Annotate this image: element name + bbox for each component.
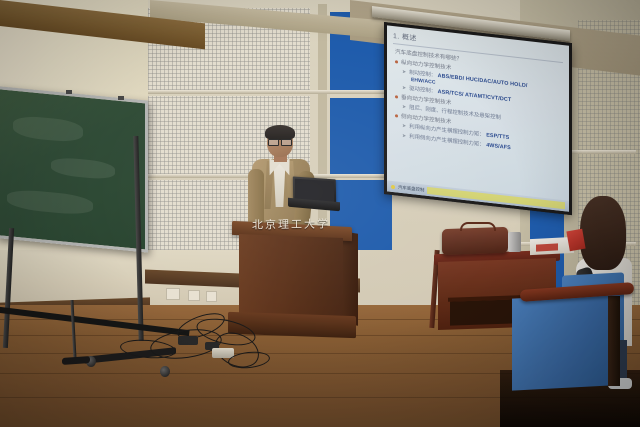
bullet-icon [395, 60, 398, 63]
presentation-slide: 1. 概述 汽车底盘控制技术有哪些？ 纵向动力学控制技术 ➤制动控制： ABS/… [387, 25, 569, 211]
caster-wheel [160, 366, 170, 377]
power-outlet [188, 290, 200, 301]
power-outlet [166, 288, 180, 300]
attendee-hair [580, 196, 626, 270]
blue-wall-panel [330, 98, 392, 176]
red-object [566, 229, 585, 251]
green-chalkboard [0, 86, 148, 253]
cable-plug [178, 336, 198, 345]
slide-footer-label: 汽车底盘控制 [398, 184, 424, 193]
arrow-icon: ➤ [402, 123, 406, 129]
thermos [508, 232, 521, 252]
wall-ledge [148, 90, 410, 94]
footer-dot-icon [391, 184, 395, 188]
briefcase-handle [460, 222, 496, 231]
board-clip [66, 90, 72, 94]
seat-post [608, 296, 620, 386]
projection-screen: 1. 概述 汽车底盘控制技术有哪些？ 纵向动力学控制技术 ➤制动控制： ABS/… [384, 22, 572, 215]
arrow-icon: ➤ [402, 104, 406, 110]
briefcase [442, 227, 508, 255]
red-folder [536, 243, 558, 251]
podium: 北京理工大学 [239, 234, 343, 322]
lecture-hall-photo: 1. 概述 汽车底盘控制技术有哪些？ 纵向动力学控制技术 ➤制动控制： ABS/… [0, 0, 640, 427]
eyeglasses-icon [268, 139, 292, 144]
arrow-icon: ➤ [402, 85, 406, 91]
bullet-icon [395, 114, 398, 117]
power-outlet [206, 291, 217, 302]
presenter-hair [265, 125, 295, 140]
auditorium-seat [512, 293, 612, 390]
bullet-icon [395, 95, 398, 98]
podium-university-name: 北京理工大学 [249, 212, 333, 235]
board-clip [118, 96, 124, 100]
arrow-icon: ➤ [402, 133, 406, 139]
arrow-icon: ➤ [402, 69, 406, 75]
